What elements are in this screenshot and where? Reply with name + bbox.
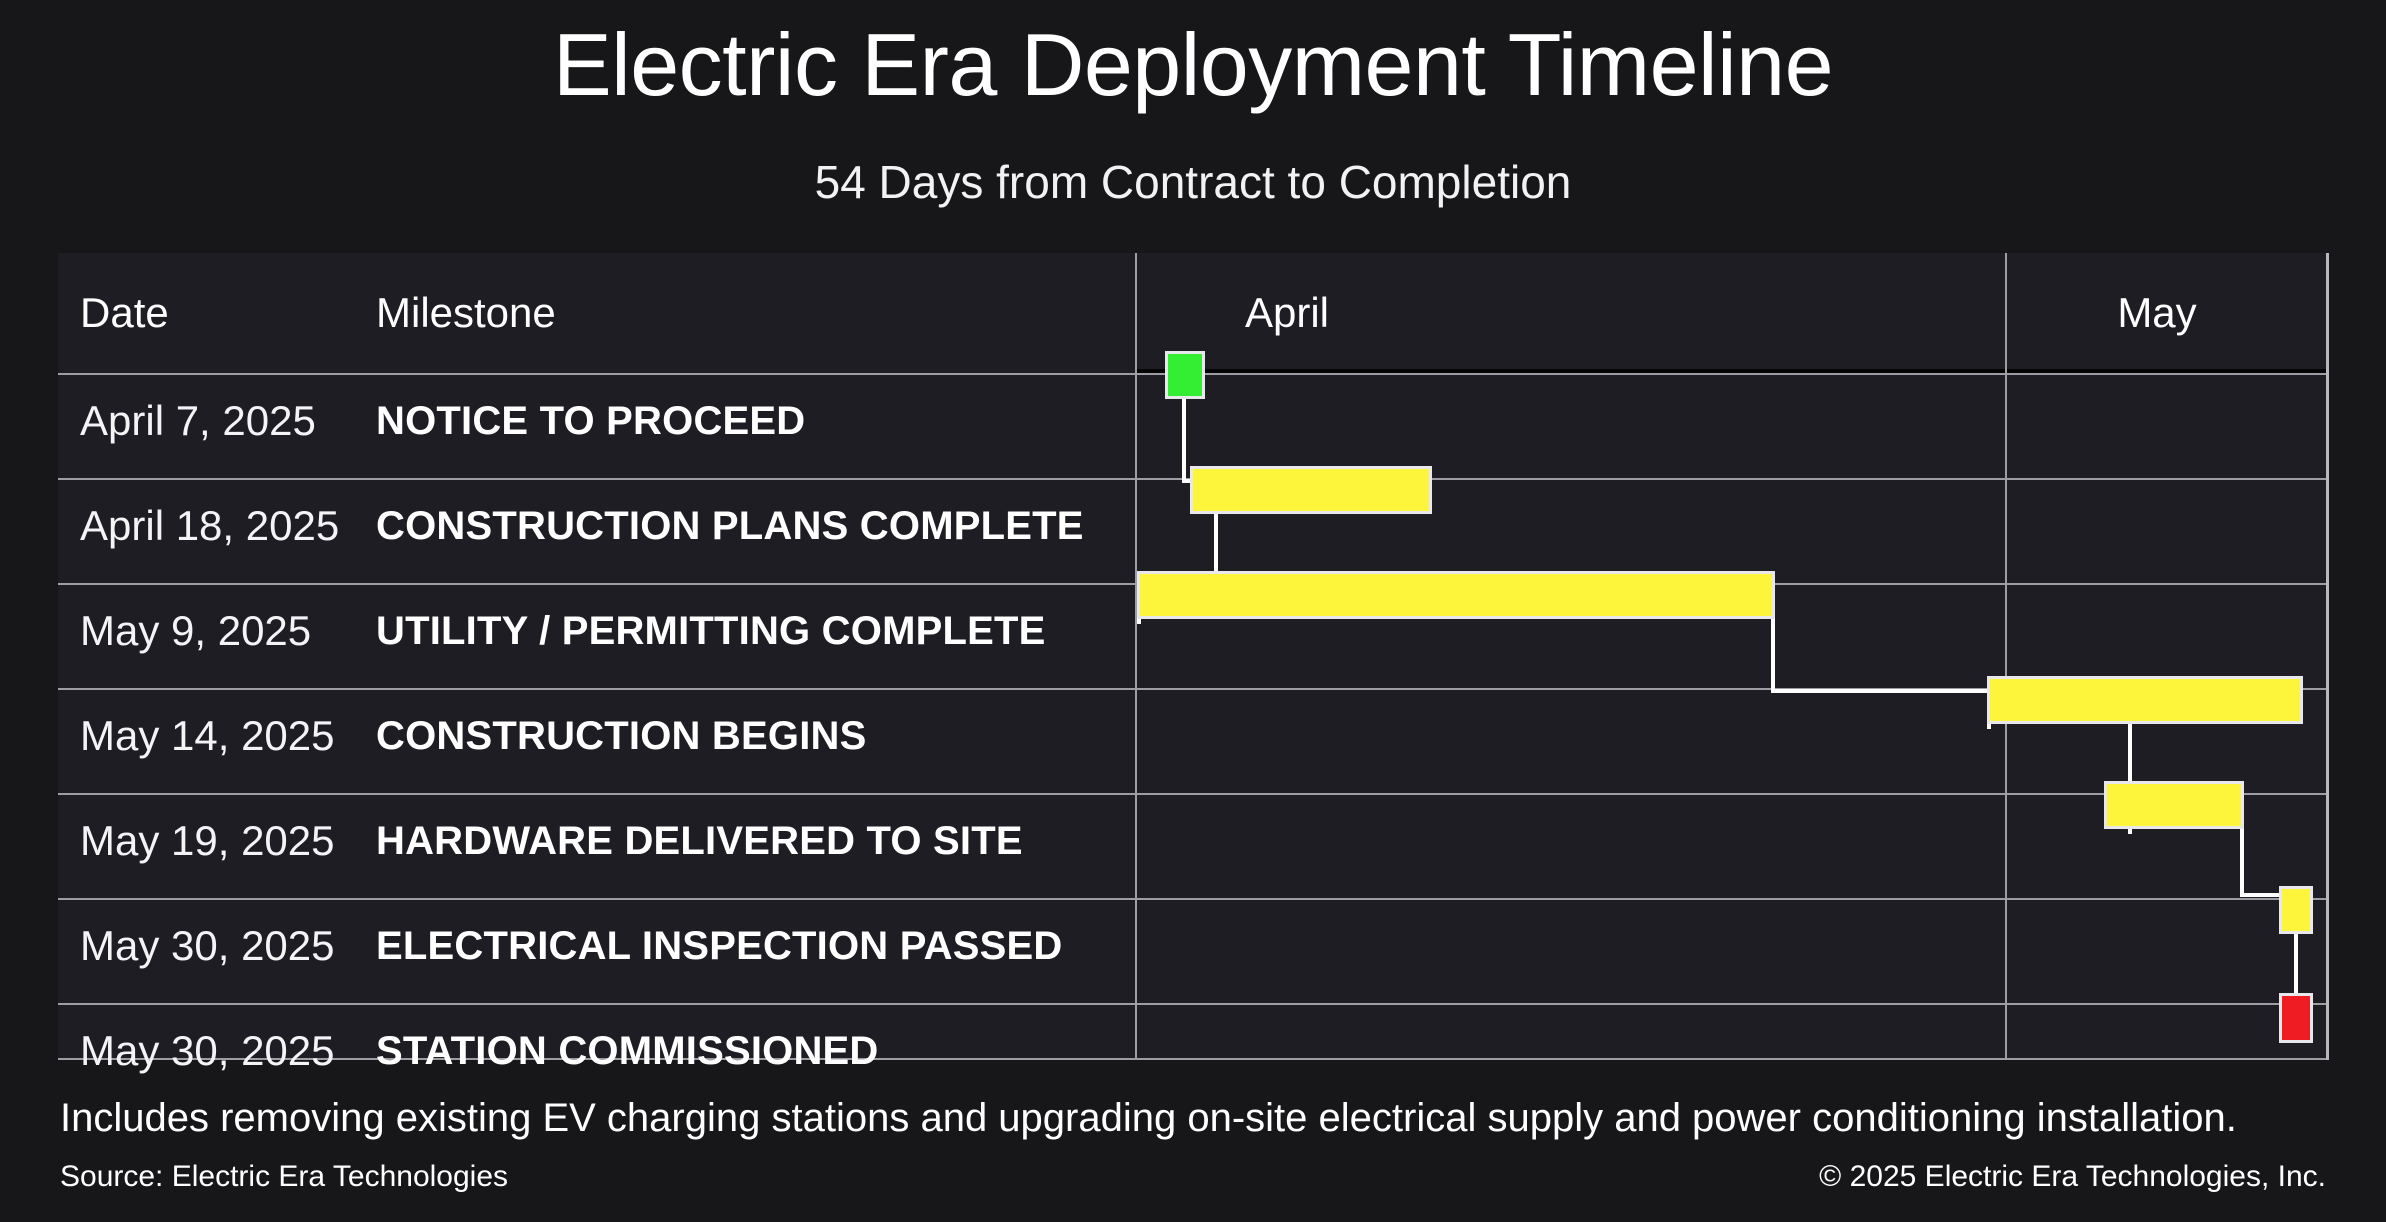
table-cell-milestone: UTILITY / PERMITTING COMPLETE: [376, 609, 1046, 654]
table-cell-date: April 7, 2025: [80, 397, 316, 445]
row-divider: [58, 793, 2326, 795]
column-header-month-may: May: [2007, 289, 2307, 337]
gantt-bar-electrical-inspection-passed[interactable]: [2279, 886, 2313, 934]
gantt-bar-notice-to-proceed[interactable]: [1165, 351, 1205, 399]
table-cell-milestone: STATION COMMISSIONED: [376, 1029, 879, 1074]
gantt-bar-construction-plans-complete[interactable]: [1190, 466, 1432, 514]
table-cell-milestone: CONSTRUCTION PLANS COMPLETE: [376, 504, 1084, 549]
table-cell-date: May 9, 2025: [80, 607, 311, 655]
gantt-bar-hardware-delivered-to-site[interactable]: [2104, 781, 2244, 829]
gantt-bar-station-commissioned[interactable]: [2279, 993, 2313, 1043]
table-cell-milestone: ELECTRICAL INSPECTION PASSED: [376, 924, 1062, 969]
source-label: Source: Electric Era Technologies: [60, 1160, 508, 1194]
page-subtitle: 54 Days from Contract to Completion: [0, 155, 2386, 209]
table-cell-date: May 14, 2025: [80, 712, 335, 760]
gantt-bar-utility-permitting-complete[interactable]: [1137, 571, 1775, 619]
copyright-label: © 2025 Electric Era Technologies, Inc.: [1819, 1160, 2326, 1194]
page-title: Electric Era Deployment Timeline: [0, 20, 2386, 110]
table-cell-milestone: HARDWARE DELIVERED TO SITE: [376, 819, 1023, 864]
column-header-milestone: Milestone: [376, 289, 556, 337]
gantt-chart-slide: Electric Era Deployment Timeline 54 Days…: [0, 0, 2386, 1222]
row-divider: [58, 898, 2326, 900]
column-header-date: Date: [80, 289, 169, 337]
dependency-connector: [2294, 934, 2298, 996]
table-cell-milestone: CONSTRUCTION BEGINS: [376, 714, 866, 759]
dependency-connector: [2240, 829, 2244, 895]
dependency-connector: [1771, 689, 1991, 693]
timeline-table: Date Milestone April May April 7, 2025 N…: [58, 253, 2329, 1060]
dependency-connector: [1182, 399, 1186, 481]
row-divider: [58, 1003, 2326, 1005]
table-cell-milestone: NOTICE TO PROCEED: [376, 399, 805, 444]
footnote: Includes removing existing EV charging s…: [60, 1096, 2237, 1141]
gantt-bar-construction-begins[interactable]: [1987, 676, 2303, 724]
column-header-month-april: April: [1137, 289, 1437, 337]
table-cell-date: April 18, 2025: [80, 502, 339, 550]
table-cell-date: May 30, 2025: [80, 922, 335, 970]
table-cell-date: May 19, 2025: [80, 817, 335, 865]
dependency-connector: [1771, 619, 1775, 691]
table-cell-date: May 30, 2025: [80, 1027, 335, 1075]
